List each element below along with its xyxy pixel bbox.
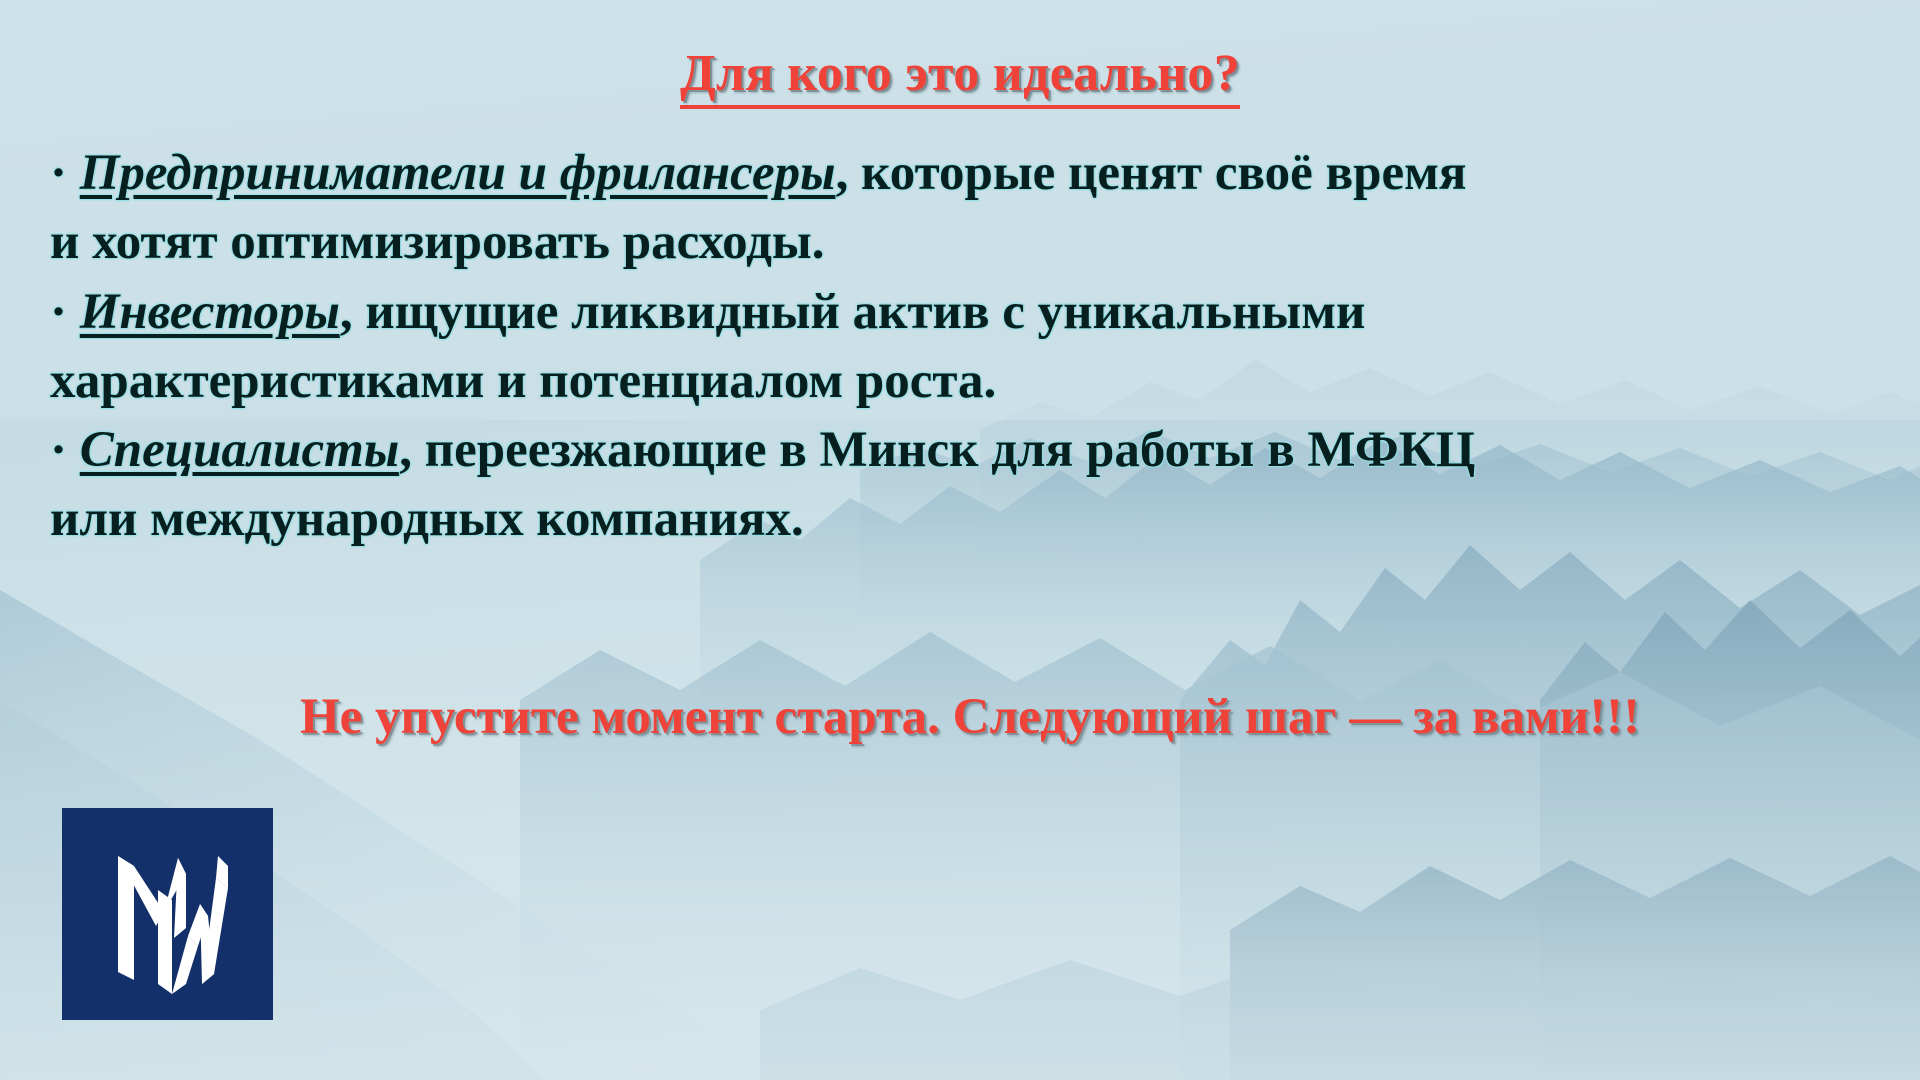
list-item-continuation: и хотят оптимизировать расходы. [50, 209, 1890, 275]
slide-content: Для кого это идеально? · Предприниматели… [0, 0, 1920, 1080]
list-item-continuation: или международных компаниях. [50, 486, 1890, 552]
bullet-marker: · [50, 284, 80, 340]
bullet-lead-term: Предприниматели и фрилансеры [80, 145, 836, 201]
page-title: Для кого это идеально? [680, 44, 1240, 109]
bullet-continuation-text: и хотят оптимизировать расходы. [50, 214, 825, 270]
bullet-rest-text: , ищущие ликвидный актив с уникальными [340, 284, 1365, 340]
mw-monogram-icon [62, 808, 273, 1020]
list-item: · Инвесторы, ищущие ликвидный актив с ун… [50, 279, 1890, 345]
bullet-rest-text: , переезжающие в Минск для работы в МФКЦ [399, 422, 1475, 478]
cta-container: Не упустите момент старта. Следующий шаг… [0, 688, 1920, 746]
cta-text: Не упустите момент старта. Следующий шаг… [300, 688, 1640, 746]
slide-canvas: Для кого это идеально? · Предприниматели… [0, 0, 1920, 1080]
bullet-continuation-text: характеристиками и потенциалом роста. [50, 353, 996, 409]
list-item: · Предприниматели и фрилансеры, которые … [50, 140, 1890, 206]
list-item: · Специалисты, переезжающие в Минск для … [50, 417, 1890, 483]
heading-container: Для кого это идеально? [0, 44, 1920, 109]
brand-logo [62, 808, 273, 1020]
bullet-marker: · [50, 422, 80, 478]
bullet-rest-text: , которые ценят своё время [836, 145, 1467, 201]
list-item-continuation: характеристиками и потенциалом роста. [50, 348, 1890, 414]
bullet-continuation-text: или международных компаниях. [50, 491, 804, 547]
bullet-list: · Предприниматели и фрилансеры, которые … [50, 140, 1890, 556]
bullet-lead-term: Инвесторы [80, 284, 340, 340]
bullet-lead-term: Специалисты [80, 422, 399, 478]
bullet-marker: · [50, 145, 80, 201]
